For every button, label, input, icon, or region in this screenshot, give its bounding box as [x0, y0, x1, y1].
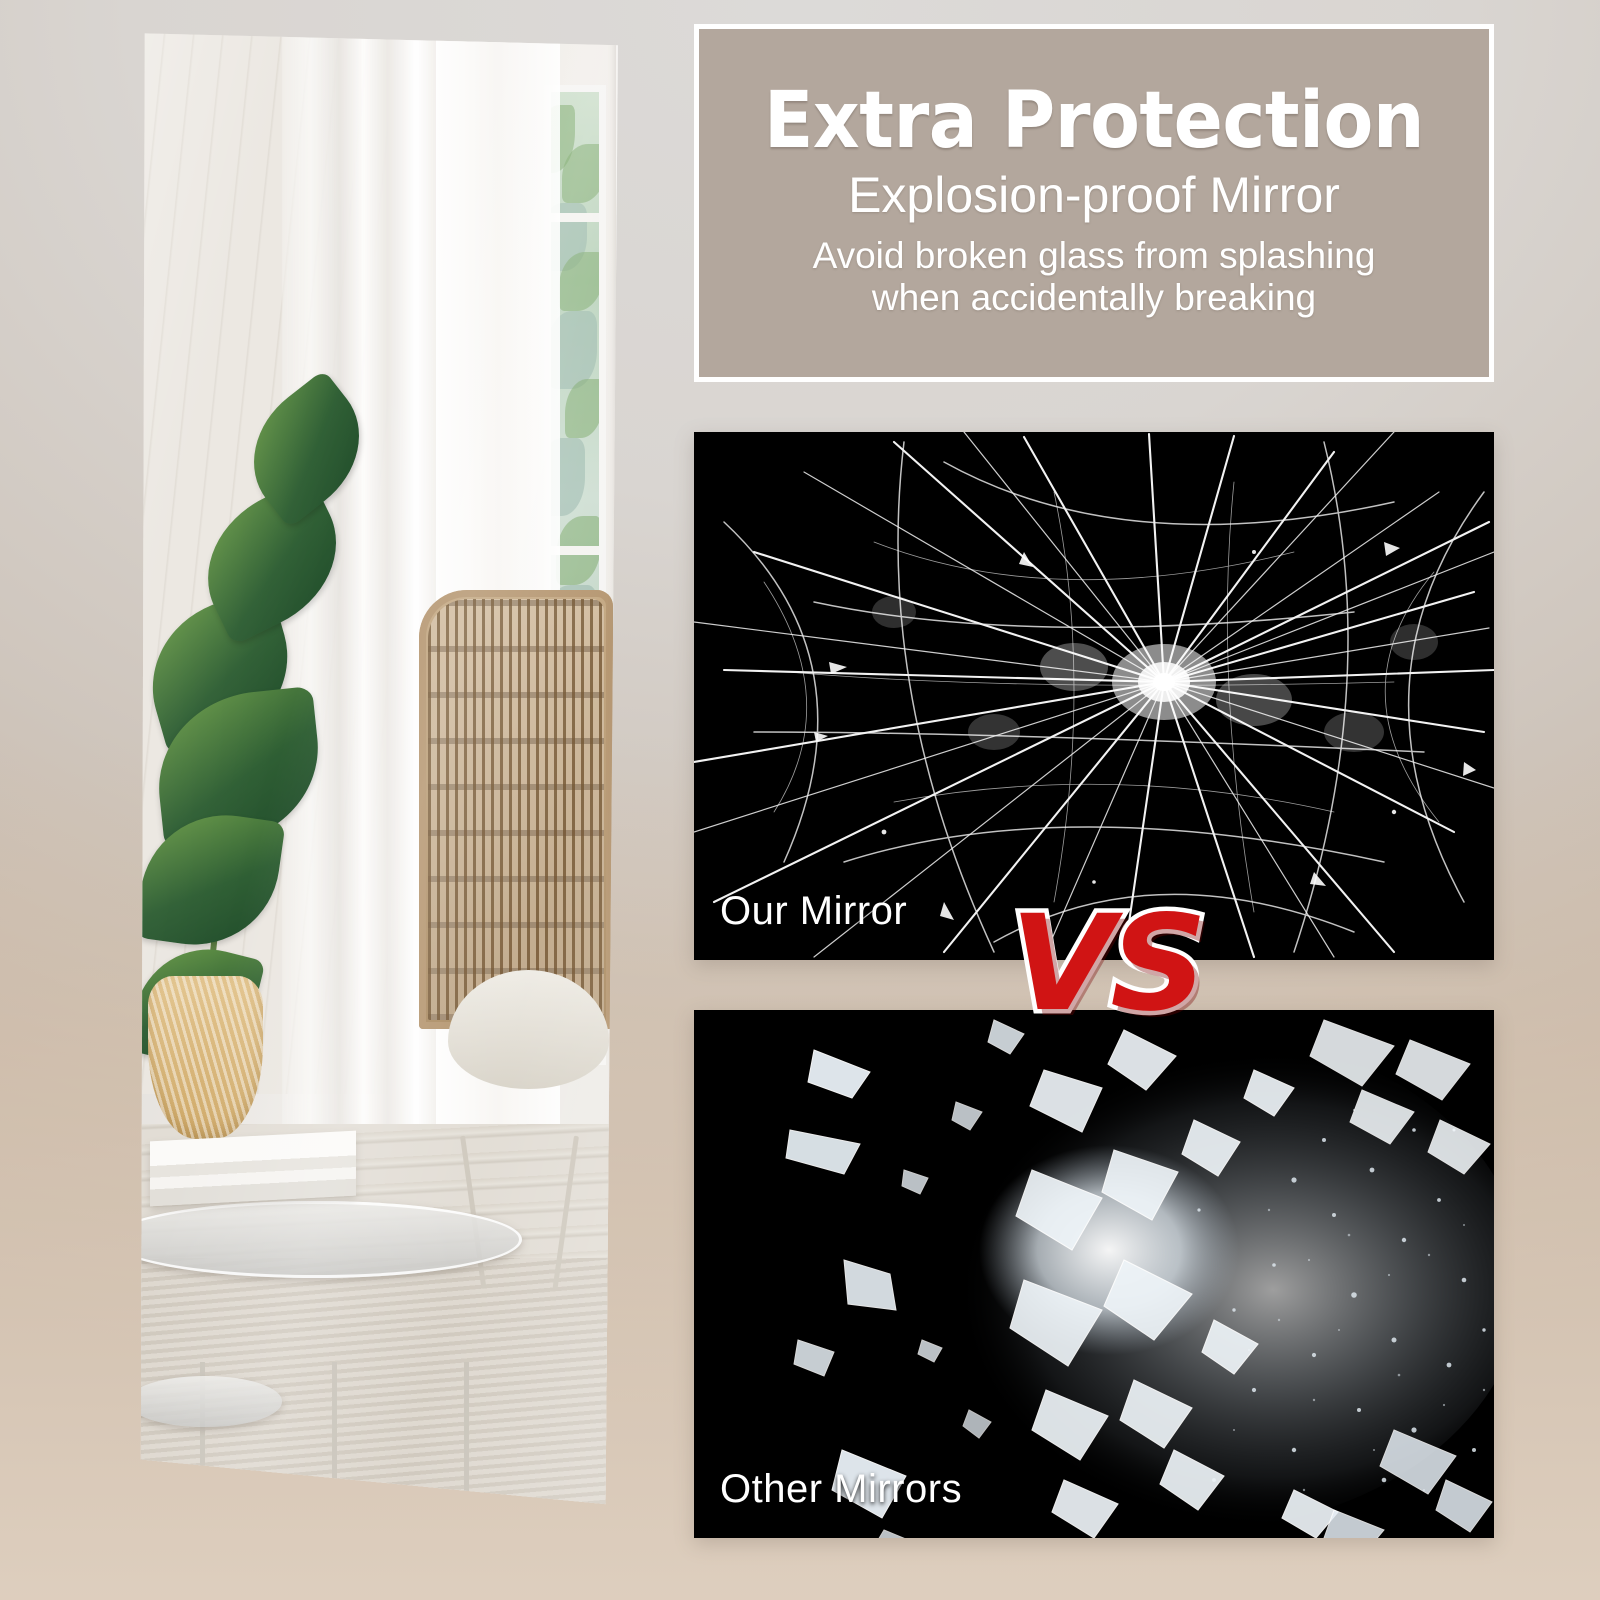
reflected-basket	[148, 976, 263, 1139]
headline-description-line-2: when accidentally breaking	[813, 277, 1376, 320]
product-mirror-photo	[138, 26, 618, 1510]
panel-label-our-mirror: Our Mirror	[720, 889, 907, 934]
headline-description-line-1: Avoid broken glass from splashing	[813, 235, 1376, 278]
reflected-books	[150, 1131, 356, 1207]
cracked-glass-graphic	[694, 432, 1494, 960]
shattered-glass-graphic	[694, 1010, 1494, 1538]
headline-description: Avoid broken glass from splashing when a…	[813, 235, 1376, 321]
comparison-panel-our-mirror: Our Mirror	[694, 432, 1494, 960]
product-marketing-image: Extra Protection Explosion-proof Mirror …	[0, 0, 1600, 1600]
reflected-nesting-table	[138, 1362, 282, 1510]
reflected-rattan-chair	[402, 590, 613, 1184]
panel-label-other-mirrors: Other Mirrors	[720, 1467, 962, 1512]
headline-card: Extra Protection Explosion-proof Mirror …	[694, 24, 1494, 382]
vs-badge: VS	[1010, 898, 1203, 1030]
mirror-reflection	[138, 26, 618, 1510]
headline-title: Extra Protection	[764, 84, 1424, 159]
comparison-panel-other-mirrors: Other Mirrors	[694, 1010, 1494, 1538]
headline-subtitle: Explosion-proof Mirror	[848, 169, 1340, 221]
